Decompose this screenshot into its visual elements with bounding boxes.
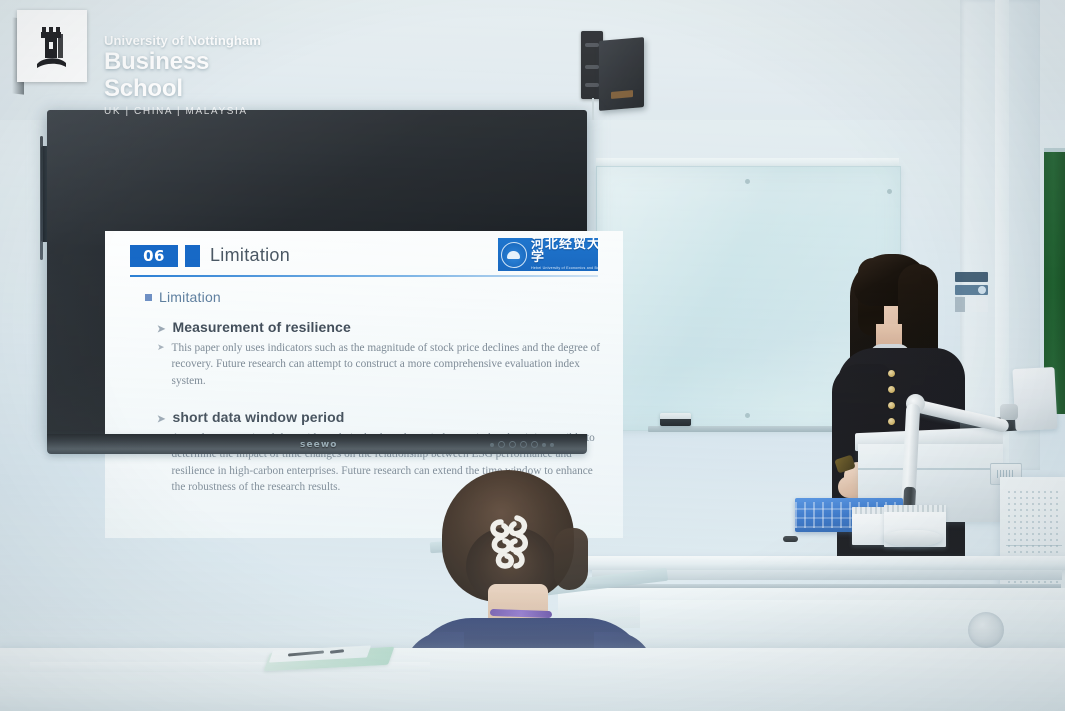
interactive-flat-panel[interactable]: 06 Limitation 河北经贸大学 Hebei University of… bbox=[47, 110, 587, 438]
classroom-photo-scene: 06 Limitation 河北经贸大学 Hebei University of… bbox=[0, 0, 1065, 711]
slide-title: Limitation bbox=[210, 245, 290, 266]
slide-header: 06 Limitation 河北经贸大学 Hebei University of… bbox=[105, 231, 623, 283]
presenter-jacket-button bbox=[888, 386, 895, 393]
source-button[interactable] bbox=[542, 443, 546, 447]
slide-header-square-accent bbox=[185, 245, 200, 267]
whiteboard-screw bbox=[887, 189, 892, 194]
watermark-text: University of Nottingham Business School… bbox=[104, 34, 285, 117]
university-logo: 河北经贸大学 Hebei University of Economics and… bbox=[498, 238, 598, 271]
square-bullet-icon bbox=[145, 294, 152, 301]
university-logo-text: 河北经贸大学 Hebei University of Economics and… bbox=[531, 238, 598, 270]
slide-section-number: 06 bbox=[130, 245, 178, 267]
whiteboard-screw bbox=[745, 179, 750, 184]
speaker-grille-seam bbox=[1006, 545, 1062, 546]
arrow-bullet-icon: ➤ bbox=[157, 324, 165, 335]
slide-block-1-body-text: This paper only uses indicators such as … bbox=[172, 340, 607, 389]
university-seal-icon bbox=[501, 242, 527, 268]
university-name-chinese: 河北经贸大学 bbox=[531, 238, 598, 264]
front-desk-left-top bbox=[0, 672, 430, 711]
watermark-crest-card bbox=[17, 10, 87, 82]
volume-up-button[interactable] bbox=[531, 441, 538, 448]
watermark-line-university: University of Nottingham bbox=[104, 34, 285, 48]
whiteboard-eraser[interactable] bbox=[660, 413, 691, 426]
display-brand-label: seewo bbox=[300, 440, 338, 450]
slide-section-label-text: Limitation bbox=[159, 289, 221, 305]
speaker-cable bbox=[592, 98, 594, 120]
menu-button[interactable] bbox=[498, 441, 505, 448]
presenter-jacket-button bbox=[888, 418, 895, 425]
back-button[interactable] bbox=[550, 443, 554, 447]
right-wall-edge bbox=[995, 0, 1009, 470]
presenter-jacket-button bbox=[888, 370, 895, 377]
whiteboard-screw bbox=[745, 413, 750, 418]
slide-block-1-body: ➤ This paper only uses indicators such a… bbox=[157, 340, 607, 389]
hair-clip bbox=[486, 508, 532, 576]
arrow-bullet-icon: ➤ bbox=[157, 414, 165, 425]
display-bezel-buttons[interactable] bbox=[490, 441, 554, 448]
slide-block-1-heading-text: Measurement of resilience bbox=[172, 319, 350, 335]
slide-block-1-heading: ➤ Measurement of resilience bbox=[157, 319, 607, 335]
display-cable bbox=[40, 136, 43, 260]
volume-down-button[interactable] bbox=[520, 441, 527, 448]
watermark-line-campuses: UK | CHINA | MALAYSIA bbox=[104, 106, 285, 117]
slide-block-2-heading: ➤ short data window period bbox=[157, 409, 607, 425]
watermark-line-school: Business School bbox=[104, 49, 285, 102]
arrow-bullet-icon: ➤ bbox=[157, 340, 165, 389]
university-name-english: Hebei University of Economics and Busine… bbox=[531, 267, 598, 271]
speaker-woofer-icon bbox=[968, 612, 1004, 648]
speaker-logo-icon bbox=[611, 90, 633, 99]
power-button[interactable] bbox=[490, 443, 494, 447]
nottingham-castle-crest-icon bbox=[33, 20, 71, 72]
lectern-seam bbox=[858, 468, 1003, 470]
desk-remote[interactable] bbox=[783, 536, 798, 542]
monitor-arm-base bbox=[884, 530, 942, 546]
slide-block-2-heading-text: short data window period bbox=[172, 409, 344, 425]
attendee-hair-strand bbox=[554, 528, 588, 590]
monitor-hinge bbox=[1000, 404, 1018, 420]
slide-section-label: Limitation bbox=[145, 289, 221, 305]
slide-block-1: ➤ Measurement of resilience ➤ This paper… bbox=[157, 319, 607, 389]
slide-header-rule bbox=[130, 275, 598, 277]
watermark-logo: University of Nottingham Business School… bbox=[17, 10, 285, 92]
home-button[interactable] bbox=[509, 441, 516, 448]
presenter-jacket-button bbox=[888, 402, 895, 409]
box-ridge-top bbox=[884, 505, 946, 512]
lectern-monitor[interactable] bbox=[1012, 367, 1057, 431]
wall-speaker bbox=[599, 37, 644, 111]
